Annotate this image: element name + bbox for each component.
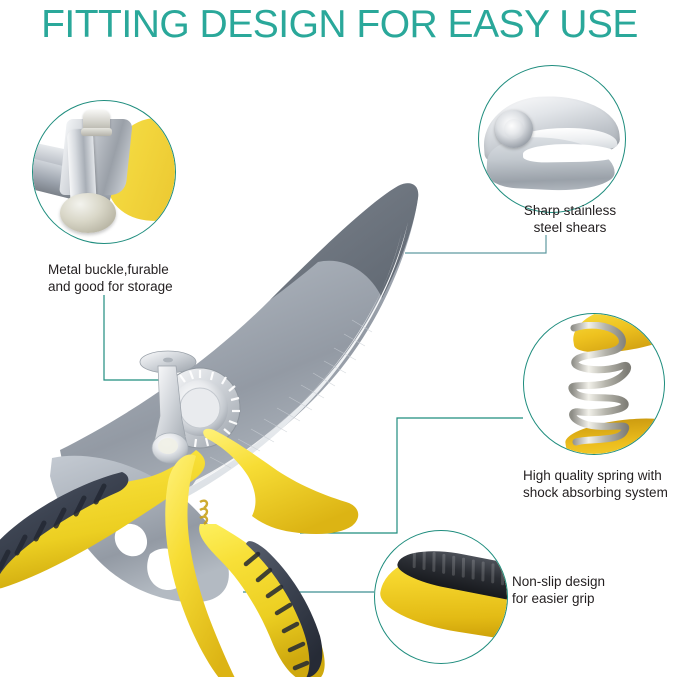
callout-quality-spring <box>523 313 665 455</box>
callout-label-metal-buckle: Metal buckle,furable and good for storag… <box>48 262 228 295</box>
callout-non-slip-grip <box>374 530 508 664</box>
infographic-page: FITTING DESIGN FOR EASY USE <box>0 0 679 677</box>
callout-sharp-shears-image <box>479 66 625 212</box>
spring-coil-icon <box>564 322 634 448</box>
callout-metal-buckle-image <box>33 101 175 243</box>
callout-label-quality-spring: High quality spring with shock absorbing… <box>523 468 679 501</box>
page-title: FITTING DESIGN FOR EASY USE <box>0 2 679 48</box>
callout-label-non-slip-grip: Non-slip design for easier grip <box>512 574 672 607</box>
callout-quality-spring-image <box>524 314 664 454</box>
callout-metal-buckle <box>32 100 176 244</box>
callout-label-sharp-shears: Sharp stainless steel shears <box>490 203 650 236</box>
callout-sharp-shears <box>478 65 626 213</box>
callout-non-slip-grip-image <box>375 531 507 663</box>
